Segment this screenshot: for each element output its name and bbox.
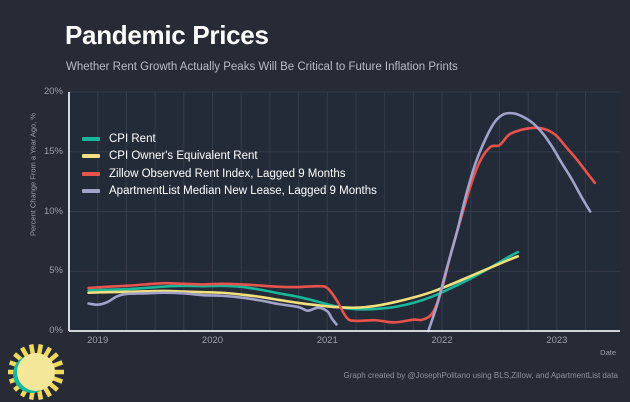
y-tick-label: 10% <box>23 206 63 217</box>
x-axis-title: Date <box>600 348 616 357</box>
legend-item-label: ApartmentList Median New Lease, Lagged 9… <box>109 185 377 197</box>
y-tick-label: 0% <box>23 325 63 336</box>
legend-swatch-icon <box>82 172 100 176</box>
legend-item-label: Zillow Observed Rent Index, Lagged 9 Mon… <box>109 168 346 180</box>
sun-disc <box>17 353 55 391</box>
chart-figure: Pandemic Prices Whether Rent Growth Actu… <box>0 0 630 402</box>
chart-credit: Graph created by @JosephPolitano using B… <box>343 371 618 380</box>
legend-item-label: CPI Owner's Equivalent Rent <box>109 150 258 162</box>
x-tick-label: 2023 <box>532 335 582 346</box>
sun-logo <box>2 340 74 400</box>
chart-legend: CPI RentCPI Owner's Equivalent RentZillo… <box>82 130 377 200</box>
x-tick-label: 2019 <box>73 335 123 346</box>
x-tick-label: 2020 <box>187 335 237 346</box>
legend-swatch-icon <box>82 137 100 141</box>
legend-item[interactable]: CPI Owner's Equivalent Rent <box>82 148 377 166</box>
legend-swatch-icon <box>82 189 100 193</box>
legend-item[interactable]: CPI Rent <box>82 130 377 148</box>
legend-item[interactable]: Zillow Observed Rent Index, Lagged 9 Mon… <box>82 165 377 183</box>
legend-item-label: CPI Rent <box>109 133 156 145</box>
legend-item[interactable]: ApartmentList Median New Lease, Lagged 9… <box>82 183 377 201</box>
y-axis-title: Percent Change From a Year Ago, % <box>29 80 38 270</box>
legend-swatch-icon <box>82 154 100 158</box>
y-tick-label: 5% <box>23 265 63 276</box>
x-tick-label: 2022 <box>417 335 467 346</box>
x-tick-label: 2021 <box>302 335 352 346</box>
y-tick-label: 20% <box>23 86 63 97</box>
y-tick-label: 15% <box>23 146 63 157</box>
